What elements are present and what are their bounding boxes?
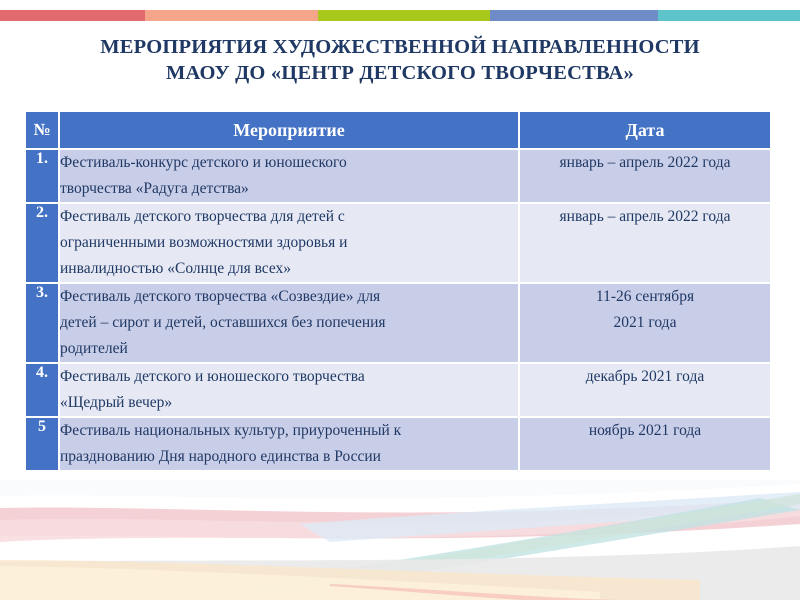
event-line: Фестиваль национальных культур, приуроче… <box>60 418 518 444</box>
ribbon-green-diagonal <box>250 494 800 592</box>
table-row: 2.Фестиваль детского творчества для дете… <box>26 204 770 282</box>
column-header-event: Мероприятие <box>60 112 518 148</box>
ribbon-pink-lower <box>0 504 800 542</box>
ribbon-cream <box>0 566 600 600</box>
event-line: детей – сирот и детей, оставшихся без по… <box>60 310 518 336</box>
event-line: «Щедрый вечер» <box>60 390 518 416</box>
top-color-bar <box>0 10 800 21</box>
date-line: 11-26 сентября <box>520 284 770 310</box>
event-line: Фестиваль детского и юношеского творчест… <box>60 364 518 390</box>
date-cell: декабрь 2021 года <box>520 364 770 416</box>
ribbon-salmon-thin <box>330 584 620 600</box>
event-cell: Фестиваль детского творчества для детей … <box>60 204 518 282</box>
top-bar-segment-teal <box>658 10 800 21</box>
column-header-number: № <box>26 112 58 148</box>
date-line: 2021 года <box>520 310 770 336</box>
event-line: Фестиваль-конкурс детского и юношеского <box>60 150 518 176</box>
row-number: 4. <box>26 364 58 416</box>
event-line: творчества «Радуга детства» <box>60 176 518 202</box>
date-cell: ноябрь 2021 года <box>520 418 770 470</box>
event-cell: Фестиваль детского творчества «Созвездие… <box>60 284 518 362</box>
table-row: 3.Фестиваль детского творчества «Созвезд… <box>26 284 770 362</box>
date-line: январь – апрель 2022 года <box>520 204 770 230</box>
row-number: 1. <box>26 150 58 202</box>
ribbon-teal-accent <box>230 580 300 592</box>
event-line: Фестиваль детского творчества «Созвездие… <box>60 284 518 310</box>
ribbon-gray-base <box>0 546 800 600</box>
row-number: 5 <box>26 418 58 470</box>
title-line-1: МЕРОПРИЯТИЯ ХУДОЖЕСТВЕННОЙ НАПРАВЛЕННОСТ… <box>0 34 800 60</box>
ribbon-teal-diagonal <box>240 498 800 590</box>
table-row: 5Фестиваль национальных культур, приуроч… <box>26 418 770 470</box>
bottom-decoration <box>0 480 800 600</box>
events-table: № Мероприятие Дата 1.Фестиваль-конкурс д… <box>24 110 772 472</box>
ribbon-white-cap <box>0 480 800 498</box>
event-cell: Фестиваль-конкурс детского и юношескогот… <box>60 150 518 202</box>
date-cell: январь – апрель 2022 года <box>520 150 770 202</box>
date-line: декабрь 2021 года <box>520 364 770 390</box>
event-line: Фестиваль детского творчества для детей … <box>60 204 518 230</box>
row-number: 2. <box>26 204 58 282</box>
top-bar-segment-green <box>318 10 490 21</box>
event-line: ограниченными возможностями здоровья и <box>60 230 518 256</box>
top-bar-segment-salmon <box>145 10 318 21</box>
top-bar-segment-red <box>0 10 145 21</box>
date-line: ноябрь 2021 года <box>520 418 770 444</box>
event-line: родителей <box>60 336 518 362</box>
table-header-row: № Мероприятие Дата <box>26 112 770 148</box>
table-row: 1.Фестиваль-конкурс детского и юношеског… <box>26 150 770 202</box>
date-cell: 11-26 сентября2021 года <box>520 284 770 362</box>
ribbon-pink-upper <box>0 498 800 538</box>
ribbon-blue <box>300 492 800 542</box>
row-number: 3. <box>26 284 58 362</box>
top-bar-segment-blue <box>490 10 658 21</box>
table-row: 4.Фестиваль детского и юношеского творче… <box>26 364 770 416</box>
date-cell: январь – апрель 2022 года <box>520 204 770 282</box>
event-cell: Фестиваль детского и юношеского творчест… <box>60 364 518 416</box>
column-header-date: Дата <box>520 112 770 148</box>
event-line: инвалидностью «Солнце для всех» <box>60 256 518 282</box>
page-title: МЕРОПРИЯТИЯ ХУДОЖЕСТВЕННОЙ НАПРАВЛЕННОСТ… <box>0 34 800 86</box>
event-cell: Фестиваль национальных культур, приуроче… <box>60 418 518 470</box>
title-line-2: МАОУ ДО «ЦЕНТР ДЕТСКОГО ТВОРЧЕСТВА» <box>0 60 800 86</box>
date-line: январь – апрель 2022 года <box>520 150 770 176</box>
ribbon-orange <box>0 560 700 600</box>
event-line: празднованию Дня народного единства в Ро… <box>60 444 518 470</box>
